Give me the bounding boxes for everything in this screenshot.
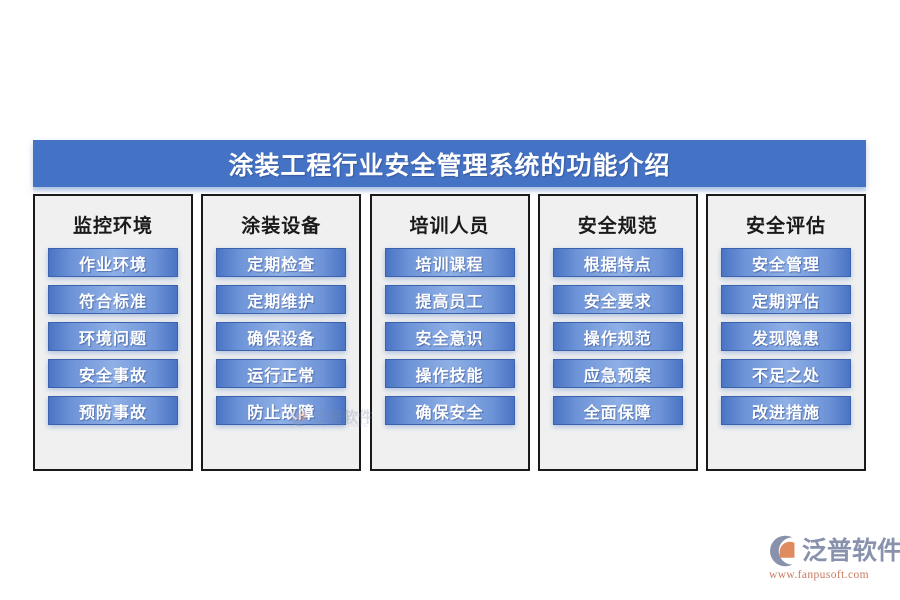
feature-pill-label: 操作规范 bbox=[584, 325, 652, 349]
feature-pill-label: 确保设备 bbox=[247, 325, 315, 349]
feature-pill[interactable]: 定期维护 bbox=[216, 285, 346, 314]
feature-pill[interactable]: 预防事故 bbox=[48, 396, 178, 425]
column-card-monitoring: 监控环境 作业环境 符合标准 环境问题 安全事故 预防事故 bbox=[33, 194, 193, 471]
feature-pill-label: 发现隐患 bbox=[752, 325, 820, 349]
feature-pill[interactable]: 安全管理 bbox=[721, 248, 851, 277]
feature-pill[interactable]: 符合标准 bbox=[48, 285, 178, 314]
brand-company-name: 泛普软件 bbox=[802, 539, 900, 564]
brand-logo: 泛普软件 www.fanpusoft.com bbox=[766, 534, 890, 586]
column-card-safety-standards: 安全规范 根据特点 安全要求 操作规范 应急预案 全面保障 bbox=[538, 194, 698, 471]
column-items: 定期检查 定期维护 确保设备 运行正常 防止故障 bbox=[203, 248, 359, 425]
feature-pill[interactable]: 操作技能 bbox=[385, 359, 515, 388]
feature-pill[interactable]: 运行正常 bbox=[216, 359, 346, 388]
feature-pill[interactable]: 确保安全 bbox=[385, 396, 515, 425]
feature-pill-label: 改进措施 bbox=[752, 399, 820, 423]
feature-pill-label: 防止故障 bbox=[247, 399, 315, 423]
feature-pill-label: 定期维护 bbox=[247, 288, 315, 312]
feature-pill[interactable]: 根据特点 bbox=[553, 248, 683, 277]
feature-pill[interactable]: 发现隐患 bbox=[721, 322, 851, 351]
feature-pill[interactable]: 安全要求 bbox=[553, 285, 683, 314]
fanpu-logo-icon bbox=[766, 534, 800, 568]
title-underglow bbox=[33, 187, 866, 193]
feature-pill[interactable]: 不足之处 bbox=[721, 359, 851, 388]
column-card-safety-assessment: 安全评估 安全管理 定期评估 发现隐患 不足之处 改进措施 bbox=[706, 194, 866, 471]
feature-pill[interactable]: 全面保障 bbox=[553, 396, 683, 425]
feature-pill-label: 符合标准 bbox=[79, 288, 147, 312]
feature-pill[interactable]: 安全事故 bbox=[48, 359, 178, 388]
feature-pill-label: 安全管理 bbox=[752, 251, 820, 275]
feature-pill-label: 预防事故 bbox=[79, 399, 147, 423]
feature-pill-label: 运行正常 bbox=[247, 362, 315, 386]
feature-pill[interactable]: 环境问题 bbox=[48, 322, 178, 351]
column-items: 安全管理 定期评估 发现隐患 不足之处 改进措施 bbox=[708, 248, 864, 425]
column-header: 涂装设备 bbox=[241, 206, 321, 248]
feature-pill-label: 不足之处 bbox=[752, 362, 820, 386]
feature-pill-label: 环境问题 bbox=[79, 325, 147, 349]
feature-pill[interactable]: 防止故障 bbox=[216, 396, 346, 425]
brand-website-url: www.fanpusoft.com bbox=[769, 569, 890, 581]
feature-pill-label: 安全事故 bbox=[79, 362, 147, 386]
feature-pill-label: 根据特点 bbox=[584, 251, 652, 275]
feature-pill-label: 确保安全 bbox=[415, 399, 483, 423]
feature-pill-label: 全面保障 bbox=[584, 399, 652, 423]
column-items: 根据特点 安全要求 操作规范 应急预案 全面保障 bbox=[540, 248, 696, 425]
column-header: 培训人员 bbox=[409, 206, 489, 248]
feature-pill[interactable]: 作业环境 bbox=[48, 248, 178, 277]
feature-pill[interactable]: 定期评估 bbox=[721, 285, 851, 314]
feature-pill[interactable]: 应急预案 bbox=[553, 359, 683, 388]
column-header: 监控环境 bbox=[73, 206, 153, 248]
column-card-training: 培训人员 培训课程 提高员工 安全意识 操作技能 确保安全 bbox=[370, 194, 530, 471]
column-items: 作业环境 符合标准 环境问题 安全事故 预防事故 bbox=[35, 248, 191, 425]
feature-pill-label: 提高员工 bbox=[415, 288, 483, 312]
columns-container: 监控环境 作业环境 符合标准 环境问题 安全事故 预防事故 涂装设备 定期检查 … bbox=[33, 194, 866, 471]
infographic-canvas: 涂装工程行业安全管理系统的功能介绍 监控环境 作业环境 符合标准 环境问题 安全… bbox=[0, 0, 900, 600]
brand-logo-row: 泛普软件 bbox=[766, 534, 890, 568]
feature-pill[interactable]: 安全意识 bbox=[385, 322, 515, 351]
column-header: 安全规范 bbox=[578, 206, 658, 248]
feature-pill-label: 安全意识 bbox=[415, 325, 483, 349]
feature-pill[interactable]: 操作规范 bbox=[553, 322, 683, 351]
feature-pill-label: 定期评估 bbox=[752, 288, 820, 312]
feature-pill[interactable]: 提高员工 bbox=[385, 285, 515, 314]
feature-pill-label: 安全要求 bbox=[584, 288, 652, 312]
page-title: 涂装工程行业安全管理系统的功能介绍 bbox=[228, 146, 670, 182]
feature-pill-label: 操作技能 bbox=[415, 362, 483, 386]
feature-pill[interactable]: 定期检查 bbox=[216, 248, 346, 277]
feature-pill-label: 培训课程 bbox=[415, 251, 483, 275]
feature-pill[interactable]: 改进措施 bbox=[721, 396, 851, 425]
feature-pill-label: 应急预案 bbox=[584, 362, 652, 386]
column-header: 安全评估 bbox=[746, 206, 826, 248]
column-card-equipment: 涂装设备 定期检查 定期维护 确保设备 运行正常 防止故障 bbox=[201, 194, 361, 471]
feature-pill-label: 定期检查 bbox=[247, 251, 315, 275]
feature-pill[interactable]: 培训课程 bbox=[385, 248, 515, 277]
page-title-banner: 涂装工程行业安全管理系统的功能介绍 bbox=[33, 140, 866, 187]
column-items: 培训课程 提高员工 安全意识 操作技能 确保安全 bbox=[372, 248, 528, 425]
feature-pill[interactable]: 确保设备 bbox=[216, 322, 346, 351]
feature-pill-label: 作业环境 bbox=[79, 251, 147, 275]
